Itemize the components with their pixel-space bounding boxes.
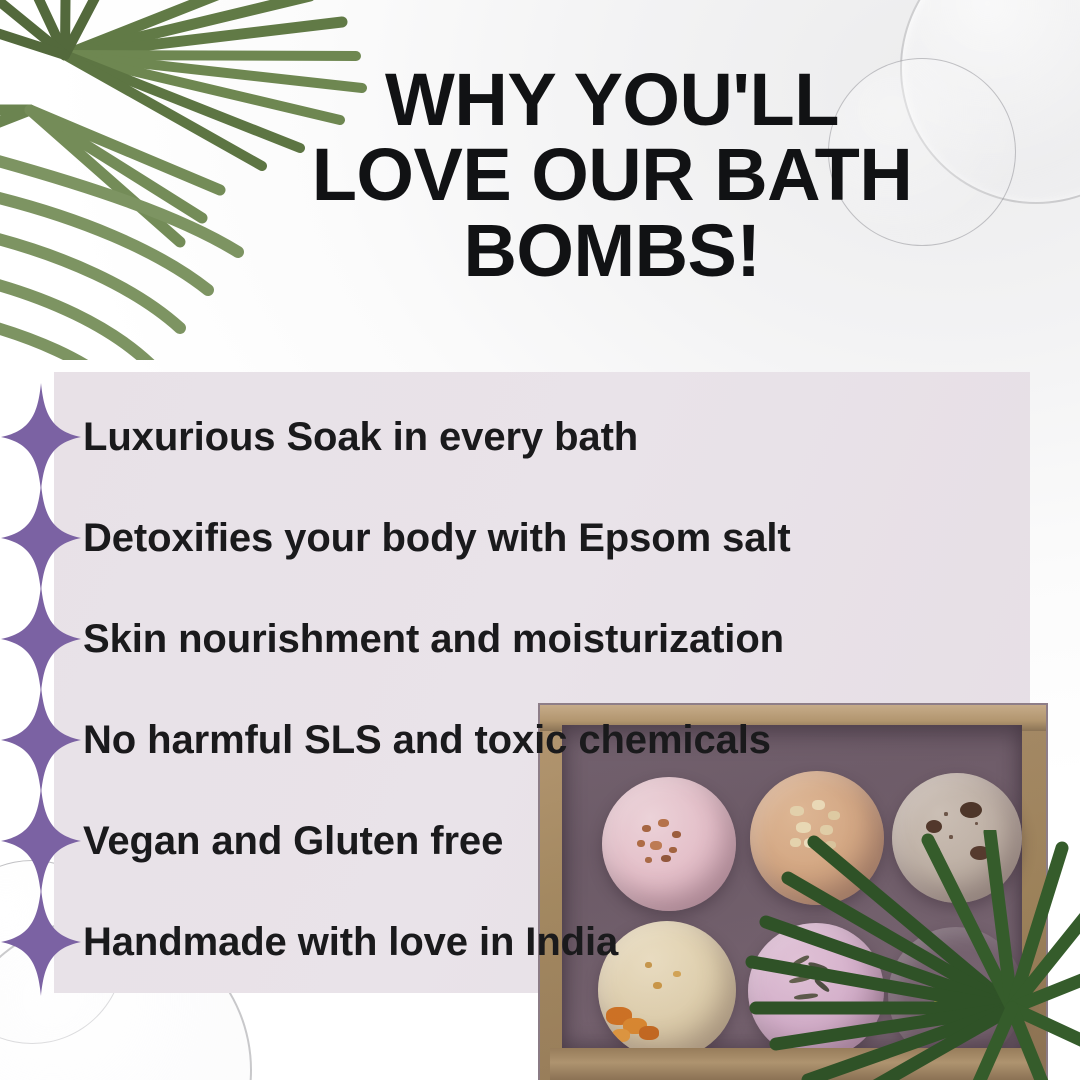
sparkle-icon <box>1 383 81 491</box>
sparkle-icon <box>1 484 81 592</box>
list-item: No harmful SLS and toxic chemicals <box>0 689 960 790</box>
benefit-label: Handmade with love in India <box>83 922 618 962</box>
sparkle-icon <box>1 585 81 693</box>
palm-frond-bottom-right-icon <box>690 830 1080 1080</box>
page-title: WHY YOU'LL LOVE OUR BATH BOMBS! <box>262 62 962 288</box>
list-item: Detoxifies your body with Epsom salt <box>0 487 960 588</box>
sparkle-icon <box>1 686 81 794</box>
list-item: Luxurious Soak in every bath <box>0 386 960 487</box>
benefit-label: Skin nourishment and moisturization <box>83 619 784 659</box>
poster-canvas: WHY YOU'LL LOVE OUR BATH BOMBS! <box>0 0 1080 1080</box>
benefit-label: Detoxifies your body with Epsom salt <box>83 518 791 558</box>
sparkle-icon <box>1 787 81 895</box>
sparkle-icon <box>1 888 81 996</box>
benefit-label: Luxurious Soak in every bath <box>83 417 638 457</box>
benefit-label: Vegan and Gluten free <box>83 821 503 861</box>
list-item: Skin nourishment and moisturization <box>0 588 960 689</box>
benefit-label: No harmful SLS and toxic chemicals <box>83 720 771 760</box>
